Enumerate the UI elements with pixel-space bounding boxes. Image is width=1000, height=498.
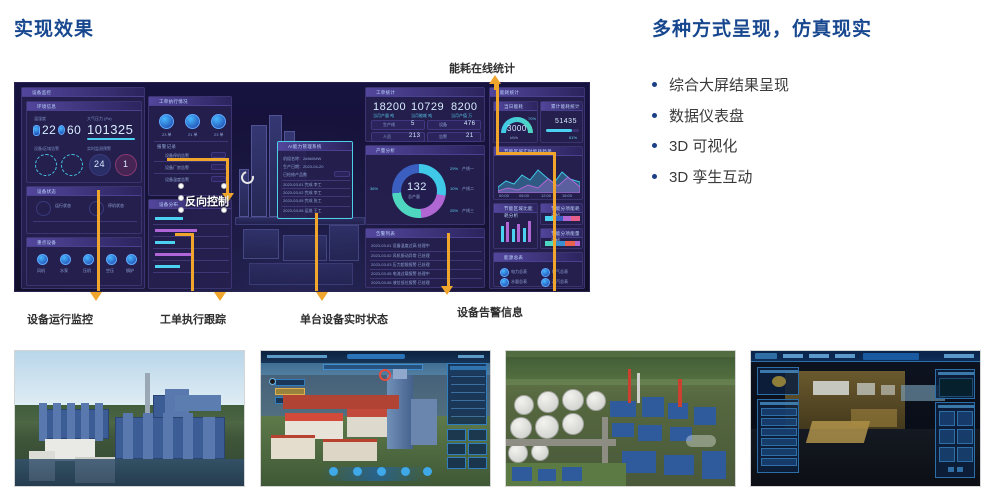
panel-title: 工单执行情况 <box>159 98 188 105</box>
panel-header: 环境信息 <box>27 102 141 111</box>
env-pressure-value: 101325 <box>87 122 133 137</box>
selection-handle[interactable] <box>178 183 184 189</box>
meter-icon <box>541 278 550 287</box>
panel-header: 工单统计 <box>366 88 484 97</box>
panel-title: 设备监控 <box>32 89 51 96</box>
process-unit <box>512 467 532 481</box>
panel-production-kpi: 工单统计 18200 10729 8200 当月产量 吨 当月能耗 吨 当月产值… <box>365 87 485 142</box>
divider <box>370 278 482 279</box>
axis-tick: 06:00 <box>519 193 529 198</box>
bar <box>517 224 520 242</box>
refinery-aerial-render <box>506 351 735 486</box>
device-ring-1 <box>36 201 51 216</box>
kpi-value-1: 18200 <box>373 101 406 113</box>
energy-pct: 61% <box>569 135 577 140</box>
panel-header: 能源总表 <box>494 253 582 262</box>
kpi-value-2: 10729 <box>411 101 444 113</box>
panel-header: 节能分项能量分析 <box>541 229 582 238</box>
callout-line-v-energy <box>496 83 499 155</box>
callout-label-device-monitor: 设备运行监控 <box>27 311 93 327</box>
twin-menu-button[interactable] <box>275 388 305 395</box>
alarm-row: 2023-03-05 电流过载报警 处理中 <box>371 271 430 277</box>
workorder-count: 21 单 <box>188 132 198 138</box>
divider <box>33 221 137 222</box>
storage-tank <box>510 417 532 439</box>
panel-alarm-list: 告警列表 2023-03-01 设备温度过高 处理中 2023-03-02 风机… <box>365 228 485 288</box>
panel-header: 工单执行情况 <box>149 97 231 106</box>
gallery-image-warehouse-twin[interactable] <box>750 350 981 487</box>
callout-arrow-down-3 <box>316 292 328 301</box>
building <box>203 417 215 459</box>
donut-center-caption: 总产量 <box>408 194 420 200</box>
equipment-label: 风机 <box>37 268 45 274</box>
panel-header: AI能力管理系统 <box>278 142 352 151</box>
process-unit <box>694 407 716 425</box>
equipment-label: 压机 <box>83 268 91 274</box>
divider <box>370 251 482 252</box>
axis-tick: 00:00 <box>499 193 509 198</box>
twin-kpi-card <box>468 429 487 441</box>
building <box>163 413 173 459</box>
kpi-caption-3: 当月产值 万 <box>451 113 472 119</box>
info-action-badge <box>334 171 350 177</box>
humidity-icon <box>58 125 65 135</box>
mini-bar <box>155 253 191 256</box>
env-temp-label: 温湿度 <box>34 116 46 122</box>
axis-tick: 12:00 <box>541 193 551 198</box>
panel-title: 节能区域比能耗分析 <box>504 205 537 219</box>
equipment-icon <box>60 254 71 265</box>
callout-line-v-energy2 <box>553 152 556 292</box>
list-item[interactable] <box>761 428 797 436</box>
flare-stack <box>628 369 631 403</box>
list-item[interactable] <box>761 438 797 446</box>
panel-energy-value: 累计能耗统计 51435 61% <box>540 101 583 143</box>
callout-line-v-status <box>315 213 318 292</box>
callout-line-h-order <box>175 233 194 236</box>
panel-header: 告警列表 <box>366 229 484 238</box>
list-item-label: 数据仪表盘 <box>669 107 744 127</box>
divider <box>153 224 229 225</box>
twin-right-minimap <box>935 369 975 399</box>
thermometer-icon <box>33 125 40 136</box>
page-title-left: 实现效果 <box>14 14 94 41</box>
divider <box>154 161 228 162</box>
bi-dashboard-screenshot: 设备监控 环境信息 温湿度 大气压力 (Pa) 22 60 101325 设备/… <box>14 82 590 292</box>
twin-kpi-card <box>447 429 466 441</box>
twin-nav-icon[interactable] <box>401 467 410 476</box>
storage-tank <box>586 391 606 411</box>
env-temp-value: 22 <box>42 123 56 137</box>
info-field: 已检修产品数 <box>283 172 307 178</box>
twin-right-panel <box>447 363 487 425</box>
stacked-segment <box>575 241 580 246</box>
twin-kpi-card <box>447 457 466 469</box>
bar <box>506 222 509 242</box>
panel-environment: 环境信息 温湿度 大气压力 (Pa) 22 60 101325 设备/区域告警 … <box>26 101 142 183</box>
building <box>81 403 89 441</box>
warehouse-interior-twin <box>751 351 980 486</box>
equipment-label: 锅炉 <box>126 268 134 274</box>
callout-line-v-order <box>191 233 194 292</box>
kpi-chip-value: 213 <box>409 133 421 139</box>
panel-area-energy-bar: 节能区域比能耗分析 <box>493 203 538 249</box>
stacked-segment <box>555 216 563 221</box>
callout-label-device-alarm: 设备告警信息 <box>457 304 523 320</box>
env-status-label: 实时监测预警 <box>87 146 111 152</box>
alarm-row: 2023-03-06 液位低位报警 已处理 <box>371 280 430 286</box>
panel-title: 环境信息 <box>37 103 56 110</box>
equipment-label: 空压 <box>106 268 114 274</box>
list-item: 3D 可视化 <box>652 137 982 157</box>
twin-nav-icon[interactable] <box>423 467 432 476</box>
feature-bullet-list: 综合大屏结果呈现 数据仪表盘 3D 可视化 3D 孪生互动 <box>652 76 982 198</box>
alarm-badge <box>211 176 226 182</box>
donut-legend-label: 产线二 <box>462 186 474 192</box>
callout-label-workorder-tracking: 工单执行跟踪 <box>160 311 226 327</box>
panel-energy-overview: 能耗统计 当日能耗 3000 70% kWh 累计能耗统计 51435 61% … <box>489 87 585 289</box>
status-ring-2 <box>61 154 83 176</box>
donut-legend-label: 产线三 <box>462 208 474 214</box>
alarm-row: 2023-03-01 设备温度过高 处理中 <box>371 243 430 249</box>
flare-stack <box>637 373 640 403</box>
equipment-icon <box>106 254 117 265</box>
alarm-row: 2023-03-02 风机振动异常 已处理 <box>371 253 430 259</box>
panel-donut-chart: 产量分析 132 总产量 29% 产线一 10% 产线二 25% 产线三 36% <box>365 145 485 225</box>
twin-left-panel-top <box>757 367 799 395</box>
meter-icon <box>500 278 509 287</box>
info-row-text: 2023-03-01 完成 李工 <box>283 182 322 188</box>
gauge-pct: 70% <box>528 116 536 121</box>
twin-kpi-card <box>447 443 466 455</box>
gauge-value: 3000 <box>507 124 527 133</box>
model-info-card: AI能力管理系统 机组名称：2#660MW 生产日期：2023-04-20 已检… <box>277 141 353 219</box>
donut-center-value: 132 <box>407 181 427 193</box>
list-item-label: 3D 孪生互动 <box>669 168 752 188</box>
panel-device-monitor: 设备监控 环境信息 温湿度 大气压力 (Pa) 22 60 101325 设备/… <box>21 87 145 289</box>
equipment-icon <box>126 254 137 265</box>
storage-tank <box>514 395 534 415</box>
list-item[interactable] <box>761 408 797 416</box>
device-status-text-1: 运行状态 <box>55 203 71 209</box>
divider <box>154 173 228 174</box>
energy-progress-track <box>572 129 579 132</box>
gallery-image-refinery-aerial[interactable] <box>505 350 736 487</box>
road <box>506 439 616 446</box>
kpi-chip <box>371 120 425 130</box>
callout-label-reverse-control: 反向控制 <box>185 193 229 209</box>
panel-header: 重点设备 <box>27 238 141 247</box>
cement-plant-digital-twin <box>261 351 490 486</box>
stacked-segment <box>571 216 580 221</box>
panel-gauge: 当日能耗 3000 70% kWh <box>493 101 538 143</box>
callout-arrow-down-1 <box>90 292 102 301</box>
mini-bar <box>155 229 197 232</box>
grid-cell[interactable] <box>957 447 973 462</box>
panel-title: 设备分布 <box>159 201 178 208</box>
twin-nav-icon[interactable] <box>377 467 386 476</box>
process-unit <box>622 451 656 473</box>
stacked-segment <box>563 216 571 221</box>
twin-nav-icon[interactable] <box>329 467 338 476</box>
building <box>67 403 75 441</box>
panel-title: 产量分析 <box>376 147 395 154</box>
divider <box>370 260 482 261</box>
donut-legend-pct: 25% <box>450 208 458 213</box>
twin-kpi-card <box>468 443 487 455</box>
panel-title: 能耗统计 <box>500 89 519 96</box>
equipment-icon <box>83 254 94 265</box>
twin-right-grid <box>935 402 975 478</box>
list-item[interactable] <box>761 448 797 456</box>
panel-energy-ratio: 节能分项能耗分析 <box>540 203 583 225</box>
workorder-count: 23 单 <box>214 132 224 138</box>
twin-topbar <box>751 351 980 362</box>
twin-topbar <box>261 351 490 363</box>
energy-progress-bar <box>546 129 572 132</box>
process-unit <box>702 451 726 479</box>
kpi-chip-label: 告警 <box>439 134 447 140</box>
panel-device-list: 设备分布 <box>148 199 232 289</box>
panel-title: 工单统计 <box>376 89 395 96</box>
alarm-row: 2023-03-03 压力超限报警 已处理 <box>371 262 430 268</box>
gallery-image-cement-twin[interactable] <box>260 350 491 487</box>
mini-bar <box>155 265 180 268</box>
env-alarm-label: 设备/区域告警 <box>34 146 59 152</box>
panel-header: 节能分项能耗分析 <box>541 204 582 213</box>
list-item-label: 综合大屏结果呈现 <box>669 76 789 96</box>
slide-root: 实现效果 多种方式呈现，仿真现实 综合大屏结果呈现 数据仪表盘 3D 可视化 3… <box>0 0 1000 498</box>
panel-energy-detail: 能源总表 电力总表 燃气总表 水量总表 蒸汽总表 <box>493 252 583 287</box>
bar <box>512 229 515 242</box>
divider <box>154 141 228 142</box>
panel-title: 能源总表 <box>504 254 523 261</box>
info-row-text: 2023-03-05 完成 张工 <box>283 198 322 204</box>
building <box>39 403 47 441</box>
info-field: 生产日期：2023-04-20 <box>283 164 323 170</box>
area-chart <box>498 161 580 193</box>
building <box>143 413 153 459</box>
process-unit <box>638 425 662 441</box>
callout-line-h <box>167 158 229 161</box>
panel-title: 告警列表 <box>376 230 395 237</box>
callout-arrow-down-4 <box>441 286 453 295</box>
selection-handle[interactable] <box>221 183 227 189</box>
twin-menu-button[interactable] <box>275 379 305 386</box>
panel-title: AI能力管理系统 <box>288 143 322 150</box>
storage-tank <box>537 391 559 413</box>
donut-legend-label: 产线一 <box>462 166 474 172</box>
kpi-value-3: 8200 <box>451 101 477 113</box>
panel-title: 当日能耗 <box>504 103 523 110</box>
twin-left-panel-list <box>757 399 799 473</box>
env-alarm-a: 24 <box>94 159 105 169</box>
list-item: 综合大屏结果呈现 <box>652 76 982 96</box>
workorder-icon <box>185 114 200 129</box>
env-humidity-value: 60 <box>67 123 81 137</box>
callout-line-top <box>494 82 497 90</box>
panel-energy-ratio-2: 节能分项能量分析 <box>540 228 583 249</box>
bullet-dot-icon <box>652 82 657 87</box>
grid-cell[interactable] <box>939 411 955 426</box>
workorder-icon <box>159 114 174 129</box>
meter-icon <box>500 268 509 277</box>
mini-bar <box>155 217 183 220</box>
grid-cell[interactable] <box>957 429 973 444</box>
selection-handle[interactable] <box>178 195 184 201</box>
page-title-right: 多种方式呈现，仿真现实 <box>652 14 872 41</box>
panel-header: 当日能耗 <box>494 102 537 111</box>
grid-cell[interactable] <box>957 411 973 426</box>
device-status-text-2: 停机状态 <box>108 203 124 209</box>
building <box>95 403 103 441</box>
alarm-badge <box>211 164 226 170</box>
callout-line-h-energy <box>496 152 556 155</box>
kpi-caption-2: 当月能耗 吨 <box>411 113 432 119</box>
workorder-icon <box>211 114 226 129</box>
panel-device-status: 设备状态 运行状态 停机状态 <box>26 186 142 234</box>
kpi-chip-value: 21 <box>466 133 474 139</box>
list-item: 3D 孪生互动 <box>652 168 982 188</box>
divider <box>282 180 350 181</box>
divider <box>282 196 350 197</box>
bullet-dot-icon <box>652 143 657 148</box>
storage-tank <box>562 389 584 411</box>
plant-daylight-render <box>15 351 244 486</box>
meter-icon <box>541 268 550 277</box>
callout-line-v-alarm <box>447 233 450 292</box>
building <box>183 413 193 459</box>
panel-header: 节能区域比能耗分析 <box>494 204 537 213</box>
donut-legend-pct: 10% <box>450 186 458 191</box>
divider <box>282 206 350 207</box>
alarm-row-text: 设备温度告警 <box>165 177 189 183</box>
panel-title: 累计能耗统计 <box>551 103 580 110</box>
stacked-segment <box>565 241 575 246</box>
storage-tank <box>508 443 528 463</box>
donut-legend-pct: 29% <box>450 166 458 171</box>
bullet-dot-icon <box>652 174 657 179</box>
axis-tick: 18:00 <box>562 193 572 198</box>
kpi-caption-1: 当月产量 吨 <box>373 113 394 119</box>
status-ring-1 <box>35 154 57 176</box>
energy-value: 51435 <box>555 118 577 125</box>
flare-stack <box>678 379 682 407</box>
donut-legend-pct: 36% <box>370 186 378 191</box>
storage-tank <box>535 415 559 439</box>
workorder-count: 23 单 <box>162 132 172 138</box>
list-item-label: 3D 可视化 <box>669 137 737 157</box>
kpi-chip-label: 人员 <box>383 134 391 140</box>
gauge-caption: kWh <box>510 135 518 140</box>
equipment-label: 水泵 <box>60 268 68 274</box>
building <box>123 413 133 459</box>
bar <box>528 221 531 242</box>
area-chart-svg <box>498 161 580 193</box>
panel-title: 重点设备 <box>37 239 56 246</box>
kpi-chip-value: 5 <box>411 121 415 127</box>
equipment-icon <box>37 254 48 265</box>
list-item[interactable] <box>761 458 797 466</box>
callout-label-energy-stat: 能耗在线统计 <box>449 60 515 76</box>
grid-cell[interactable] <box>939 429 955 444</box>
panel-subtitle: 报警记录 <box>157 143 176 150</box>
bar <box>501 226 504 242</box>
meter-label: 水量总表 <box>511 279 527 285</box>
twin-nav-icon[interactable] <box>353 467 362 476</box>
env-alarm-b: 1 <box>123 159 129 169</box>
process-unit <box>610 401 636 417</box>
process-unit <box>612 423 634 437</box>
callout-line-v-left <box>97 190 100 292</box>
process-unit <box>538 469 556 481</box>
divider <box>370 269 482 270</box>
kpi-chip-label: 设备 <box>439 122 447 128</box>
list-item: 数据仪表盘 <box>652 107 982 127</box>
storage-tank <box>562 413 584 435</box>
list-item[interactable] <box>761 418 797 426</box>
process-unit <box>562 467 582 481</box>
meter-label: 电力总表 <box>511 269 527 275</box>
info-row-text: 2023-03-02 完成 李工 <box>283 190 322 196</box>
panel-header: 能耗统计 <box>490 88 584 97</box>
panel-header: 设备状态 <box>27 187 141 196</box>
info-field: 机组名称：2#660MW <box>283 156 321 162</box>
callout-line-v <box>226 158 229 196</box>
callout-label-single-device-status: 单台设备实时状态 <box>300 311 388 327</box>
panel-header: 产量分析 <box>366 146 484 155</box>
panel-header: 累计能耗统计 <box>541 102 582 111</box>
twin-kpi-card <box>468 457 487 469</box>
panel-device-quicklinks: 重点设备 风机 水泵 压机 空压 锅炉 <box>26 237 142 286</box>
alarm-row-text: 设备厂房告警 <box>165 165 189 171</box>
grid-cell[interactable] <box>939 447 955 462</box>
panel-workorder: 工单执行情况 23 单 21 单 23 单 报警记录 设备停机告警 设备厂房告警… <box>148 96 232 196</box>
callout-arrow-down-2 <box>214 292 226 301</box>
panel-title: 设备状态 <box>37 188 56 195</box>
kpi-chip-label: 生产线 <box>383 122 395 128</box>
process-unit <box>664 455 694 475</box>
selection-handle[interactable] <box>178 207 184 213</box>
gallery-image-plant-daylight[interactable] <box>14 350 245 487</box>
mini-bar <box>155 241 175 244</box>
pressure-bar <box>87 138 135 140</box>
building <box>53 403 61 441</box>
divider <box>282 188 350 189</box>
bullet-dot-icon <box>652 113 657 118</box>
kpi-chip-value: 476 <box>464 121 476 127</box>
panel-header: 设备监控 <box>22 88 144 97</box>
bar <box>523 228 526 242</box>
process-unit <box>642 397 664 417</box>
